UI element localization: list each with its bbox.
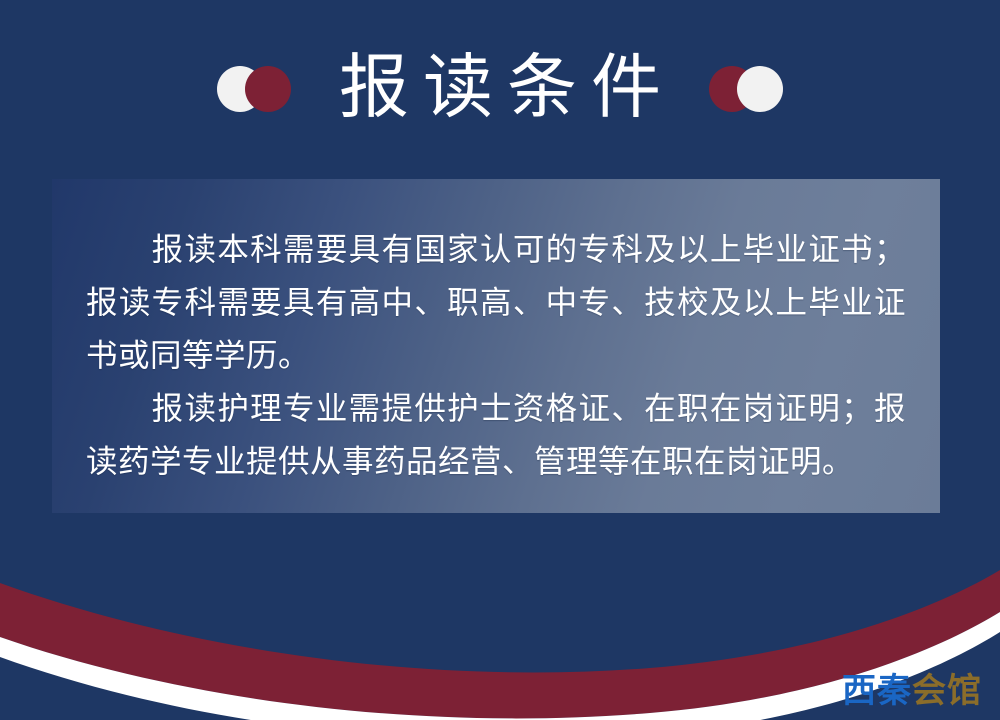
decorative-circles-left — [217, 66, 291, 112]
white-circle-icon — [737, 66, 783, 112]
content-panel: 报读本科需要具有国家认可的专科及以上毕业证书；报读专科需要具有高中、职高、中专、… — [52, 179, 940, 513]
requirement-paragraph-degree: 报读本科需要具有国家认可的专科及以上毕业证书；报读专科需要具有高中、职高、中专、… — [86, 223, 906, 382]
watermark-secondary-text: 会馆 — [912, 672, 982, 710]
watermark: 西秦会馆 — [842, 674, 982, 708]
watermark-primary-text: 西秦 — [842, 672, 912, 710]
page-title: 报读条件 — [325, 52, 675, 122]
slide-header: 报读条件 — [0, 0, 1000, 178]
red-circle-icon — [245, 66, 291, 112]
decorative-circles-right — [709, 66, 783, 112]
slide-canvas: 报读条件 报读本科需要具有国家认可的专科及以上毕业证书；报读专科需要具有高中、职… — [0, 0, 1000, 720]
requirement-paragraph-major: 报读护理专业需提供护士资格证、在职在岗证明；报读药学专业提供从事药品经营、管理等… — [86, 382, 906, 488]
